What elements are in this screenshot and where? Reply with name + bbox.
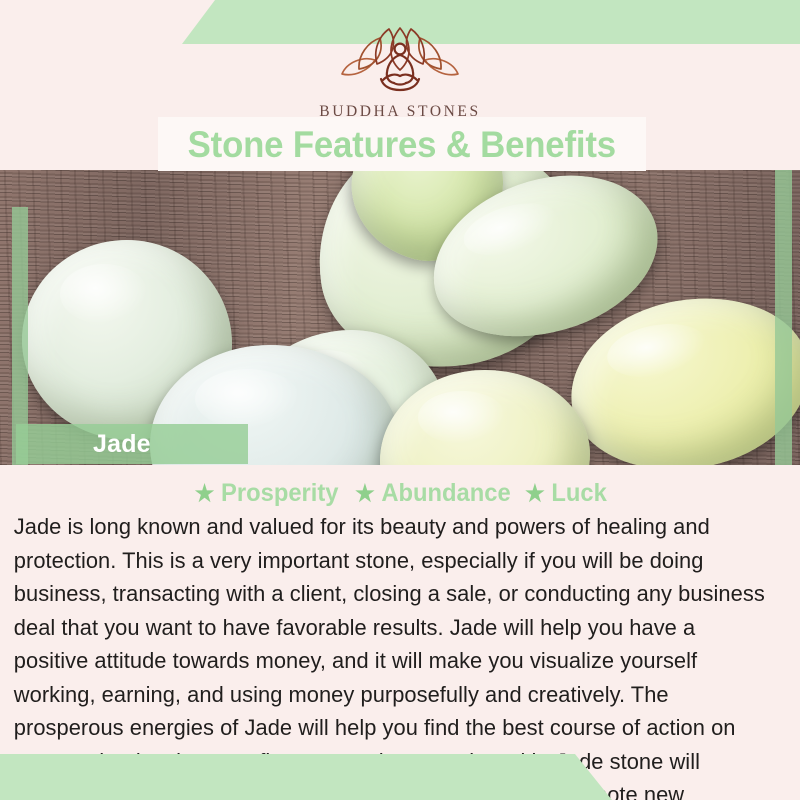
stone-name-badge: Jade <box>16 424 248 464</box>
stone-name-label: Jade <box>93 430 151 459</box>
content-area: ★ Prosperity ★ Abundance ★ Luck Jade is … <box>0 465 800 800</box>
benefit-item-prosperity: ★ Prosperity <box>195 479 339 508</box>
lotus-meditation-icon <box>325 22 475 94</box>
benefit-item-abundance: ★ Abundance <box>355 479 511 508</box>
benefit-item-luck: ★ Luck <box>525 479 607 508</box>
brand-header: BUDDHA STONES <box>0 22 800 121</box>
benefit-label: Prosperity <box>222 479 339 508</box>
page-title: Stone Features & Benefits <box>188 126 616 163</box>
benefit-label: Abundance <box>381 479 510 508</box>
star-icon: ★ <box>195 482 215 505</box>
star-icon: ★ <box>525 482 545 505</box>
benefits-list: ★ Prosperity ★ Abundance ★ Luck <box>0 465 800 510</box>
benefit-label: Luck <box>551 479 606 508</box>
stone-photo <box>0 170 800 465</box>
star-icon: ★ <box>355 482 375 505</box>
infographic-page: BUDDHA STONES Stone Features & Benefits … <box>0 0 800 800</box>
decorative-rail-right <box>775 170 792 465</box>
title-banner: Stone Features & Benefits <box>158 117 646 171</box>
